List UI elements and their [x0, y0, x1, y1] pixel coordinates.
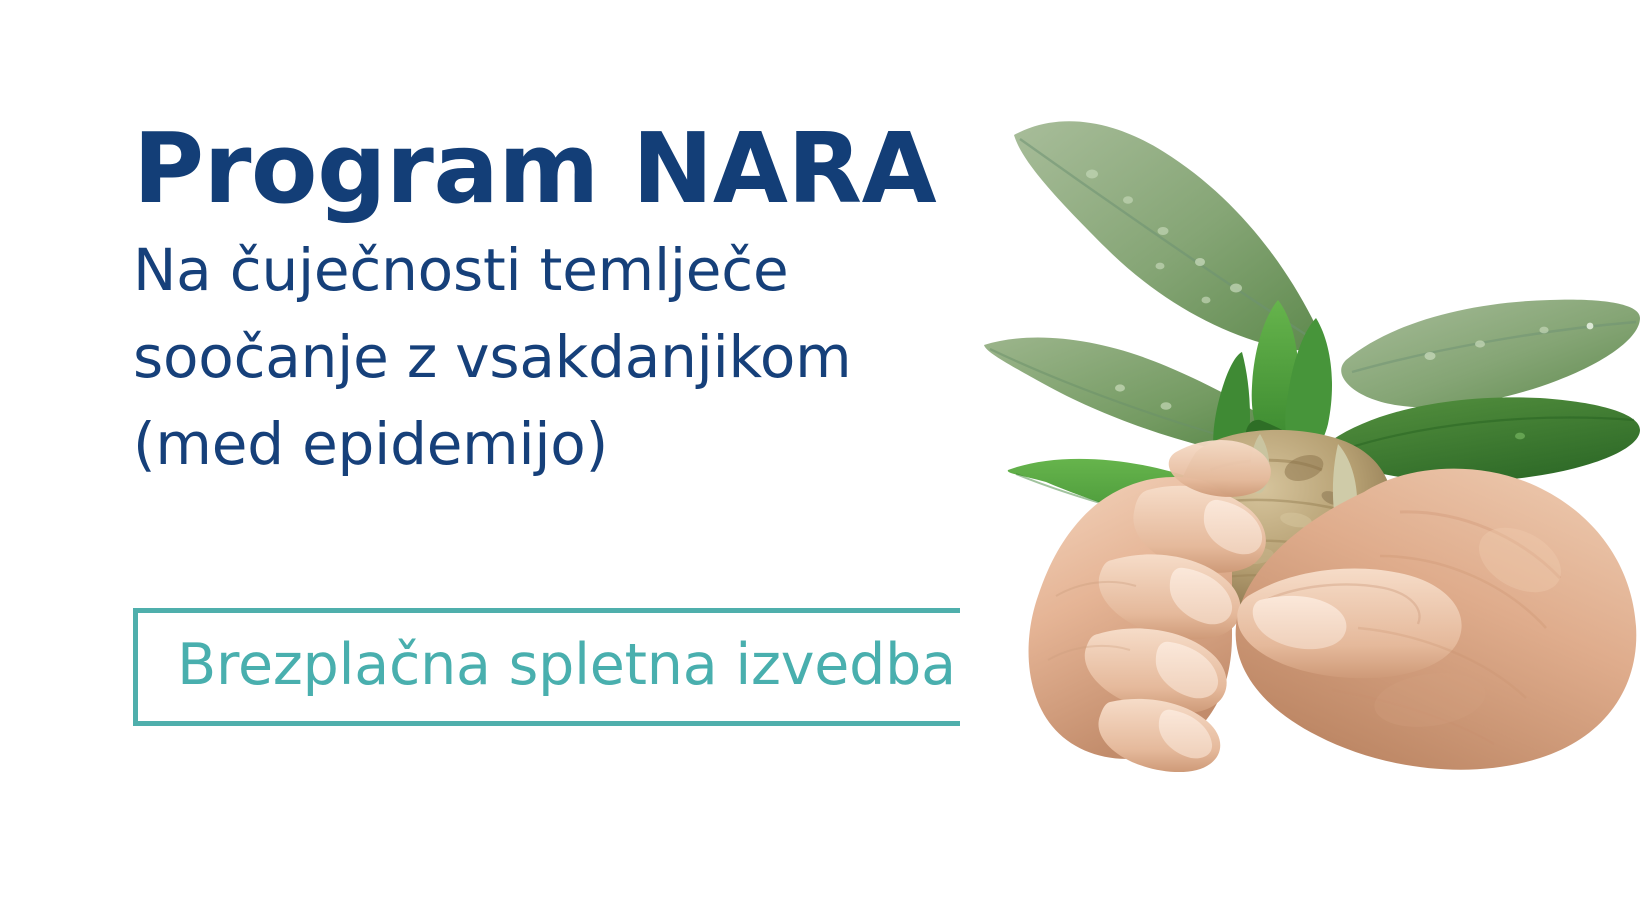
hands-holding-plant-image — [960, 0, 1640, 924]
subtitle-line-3: (med epidemijo) — [133, 401, 1033, 488]
subtitle-line-1: Na čuječnosti temlječe — [133, 227, 1033, 314]
subtitle-line-2: soočanje z vsakdanjikom — [133, 314, 1033, 401]
subtitle-block: Na čuječnosti temlječe soočanje z vsakda… — [133, 227, 1033, 488]
page-title: Program NARA — [133, 118, 1033, 221]
poster-canvas: Program NARA Na čuječnosti temlječe sooč… — [0, 0, 1640, 924]
text-column: Program NARA Na čuječnosti temlječe sooč… — [133, 118, 1033, 488]
plant-in-hands-illustration — [960, 0, 1640, 924]
cta-button-label: Brezplačna spletna izvedba — [177, 637, 956, 694]
cta-button[interactable]: Brezplačna spletna izvedba — [133, 608, 1000, 726]
